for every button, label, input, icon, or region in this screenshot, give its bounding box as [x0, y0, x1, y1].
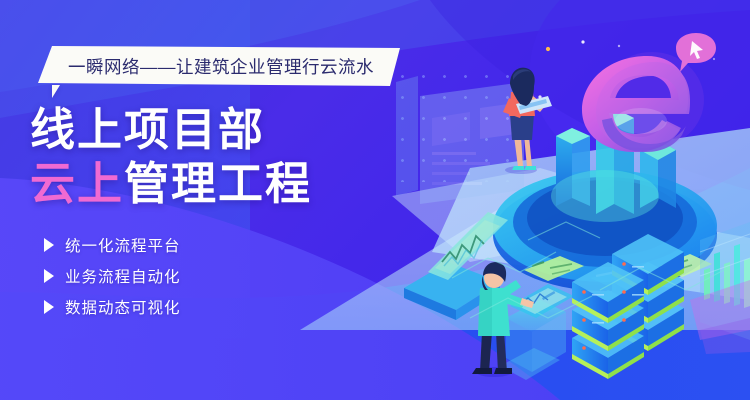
triangle-right-icon [44, 300, 54, 314]
headline-line-1: 线上项目部 [30, 104, 312, 156]
copy-block: 一瞬网络——让建筑企业管理行云流水 线上项目部 云上管理工程 统一化流程平台 业… [0, 0, 420, 400]
headline-accent-text: 云上 [30, 158, 124, 209]
page-title: 线上项目部 云上管理工程 [30, 104, 312, 210]
tagline-ribbon-tail [52, 85, 60, 98]
promo-banner: 一瞬网络——让建筑企业管理行云流水 线上项目部 云上管理工程 统一化流程平台 业… [0, 0, 750, 400]
triangle-right-icon [44, 238, 54, 252]
feature-label: 业务流程自动化 [65, 265, 181, 287]
list-item: 业务流程自动化 [44, 263, 181, 289]
feature-list: 统一化流程平台 业务流程自动化 数据动态可视化 [44, 232, 181, 325]
feature-label: 统一化流程平台 [65, 234, 181, 256]
tagline-ribbon: 一瞬网络——让建筑企业管理行云流水 [38, 46, 400, 86]
tagline-text: 一瞬网络——让建筑企业管理行云流水 [68, 54, 374, 79]
list-item: 数据动态可视化 [44, 294, 181, 320]
triangle-right-icon [44, 269, 54, 283]
feature-label: 数据动态可视化 [65, 296, 181, 318]
headline-line-2: 云上管理工程 [30, 158, 312, 210]
list-item: 统一化流程平台 [44, 232, 181, 258]
headline-rest-text: 管理工程 [124, 158, 312, 209]
